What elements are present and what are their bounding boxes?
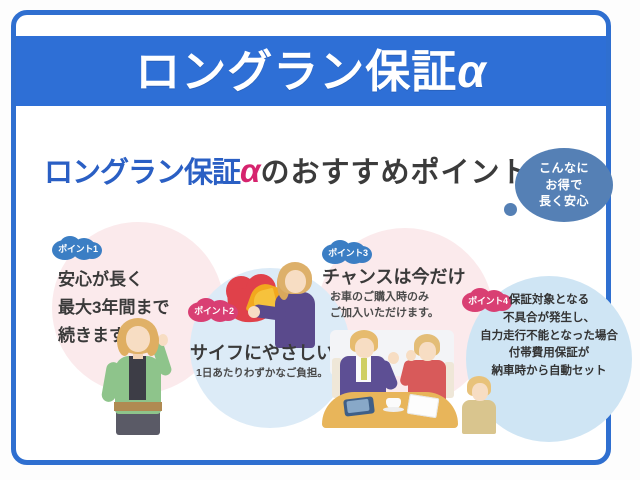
point-2-badge: ポイント2 [188, 298, 240, 322]
figure-hand [248, 306, 260, 318]
headline-suffix-text: のおすすめポイント [260, 157, 530, 189]
salesperson-tie [361, 358, 367, 380]
customer-face [419, 342, 436, 361]
bubble-line-3: 長く安心 [539, 193, 589, 210]
page-title: ロングラン保証α [135, 48, 487, 94]
figure-torso [462, 400, 496, 434]
point-3-badge: ポイント3 [322, 240, 374, 264]
figure-face [285, 270, 306, 293]
figure-hand-right [158, 334, 168, 346]
speech-bubble-catchphrase: こんなに お得で 長く安心 [515, 148, 613, 222]
speech-bubble-tail [504, 203, 517, 216]
point-4-line-5: 納車時から自動セット [466, 363, 632, 381]
headline: ロングラン保証αのおすすめポイント [44, 154, 531, 188]
advertisement-banner: ロングラン保証α ロングラン保証αのおすすめポイント こんなに お得で 長く安心… [0, 0, 640, 480]
title-alpha-symbol: α [457, 45, 487, 97]
point-4-badge-label: ポイント4 [468, 294, 508, 307]
salesperson-hand [388, 352, 399, 364]
point-3-subtext-line-2: ご加入いただけます。 [330, 306, 439, 322]
point-2-heading: サイフにやさしい [190, 340, 334, 367]
figure-inner-top [129, 356, 146, 400]
point-4-line-4: 付帯費用保証が [466, 345, 632, 363]
point-3-heading: チャンスは今だけ [322, 264, 465, 291]
title-band: ロングラン保証α [16, 36, 606, 106]
point-1-badge: ポイント1 [52, 236, 104, 260]
point-2-badge-label: ポイント2 [194, 304, 234, 317]
salesperson-face [355, 338, 374, 358]
point-4-line-3: 自力走行不能となった場合 [466, 328, 632, 346]
headline-brand-text: ロングラン保証 [44, 157, 240, 189]
point-1-heading-line-1: 安心が長く [58, 266, 169, 294]
point-1-badge-label: ポイント1 [58, 242, 98, 255]
headline-alpha-symbol: α [240, 152, 260, 189]
coffee-saucer [383, 407, 404, 412]
point-3-subtext: お車のご購入時のみ ご加入いただけます。 [330, 290, 439, 322]
figure-belt [114, 402, 162, 411]
figure-face [472, 383, 488, 401]
point-4-line-2: 不具合が発生し、 [466, 310, 632, 328]
bubble-line-1: こんなに [539, 160, 589, 177]
title-brand-text: ロングラン保証 [135, 46, 457, 97]
point-3-badge-label: ポイント3 [328, 246, 368, 259]
point-2-subtext: 1日あたりわずかなご負担。 [196, 366, 328, 381]
figure-face [126, 326, 150, 352]
bubble-line-2: お得で [545, 177, 583, 194]
point-1-heading-line-2: 最大3年間まで [58, 294, 169, 322]
point-3-subtext-line-1: お車のご購入時のみ [330, 290, 439, 306]
